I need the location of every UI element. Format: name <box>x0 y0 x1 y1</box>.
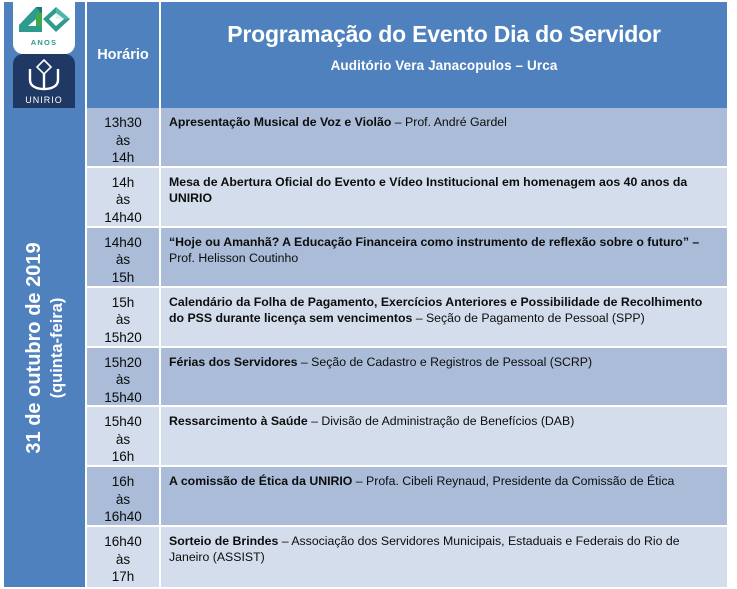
time-end: 16h40 <box>104 508 142 526</box>
cell-time: 16h40às17h <box>85 527 161 587</box>
activity-title: “Hoje ou Amanhã? A Educação Financeira c… <box>169 235 699 249</box>
time-separator: às <box>116 311 130 329</box>
time-start: 16h40 <box>104 533 142 551</box>
table-row: 15h40às16hRessarcimento à Saúde – Divisã… <box>85 407 727 467</box>
cell-time: 15h40às16h <box>85 407 161 465</box>
time-end: 15h20 <box>104 329 142 347</box>
page-title: Programação do Evento Dia do Servidor <box>227 21 661 47</box>
cell-time: 13h30às14h <box>85 108 161 166</box>
anniversary-label: ANOS <box>13 38 75 47</box>
cell-time: 16hàs16h40 <box>85 467 161 525</box>
table-row: 16hàs16h40A comissão de Ética da UNIRIO … <box>85 467 727 527</box>
date-line-weekday: (quinta-feira) <box>48 242 67 453</box>
cell-description: Ressarcimento à Saúde – Divisão de Admin… <box>161 407 727 465</box>
column-header-horario: Horário <box>85 2 161 108</box>
time-separator: às <box>116 251 130 269</box>
page-subtitle: Auditório Vera Janacopulos – Urca <box>331 58 558 73</box>
table-body: 31 de outubro de 2019 (quinta-feira) 13h… <box>4 108 727 587</box>
time-start: 14h <box>112 174 135 192</box>
activity-speaker: – Profa. Cibeli Reynaud, Presidente da C… <box>352 474 674 488</box>
time-start: 15h40 <box>104 413 142 431</box>
cell-time: 14hàs14h40 <box>85 168 161 226</box>
time-start: 14h40 <box>104 234 142 252</box>
time-start: 15h <box>112 294 135 312</box>
unirio-emblem-icon <box>24 58 64 92</box>
logo-cell: ANOS UNIRIO <box>4 2 85 108</box>
cell-time: 15h20às15h40 <box>85 348 161 406</box>
activity-speaker: – Seção de Cadastro e Registros de Pesso… <box>298 355 593 369</box>
activity-title: Mesa de Abertura Oficial do Evento e Víd… <box>169 175 687 205</box>
time-start: 13h30 <box>104 114 142 132</box>
time-separator: às <box>116 431 130 449</box>
activity-speaker: – Prof. André Gardel <box>391 115 507 129</box>
unirio-logo: UNIRIO <box>13 54 75 108</box>
cell-description: Mesa de Abertura Oficial do Evento e Víd… <box>161 168 727 226</box>
date-line-primary: 31 de outubro de 2019 <box>23 242 46 453</box>
activity-title: Ressarcimento à Saúde <box>169 414 308 428</box>
activity-title: A comissão de Ética da UNIRIO <box>169 474 352 488</box>
time-separator: às <box>116 191 130 209</box>
cell-description: Apresentação Musical de Voz e Violão – P… <box>161 108 727 166</box>
activity-speaker: – Seção de Pagamento de Pessoal (SPP) <box>412 311 644 325</box>
time-end: 17h <box>112 568 135 586</box>
table-row: 16h40às17hSorteio de Brindes – Associaçã… <box>85 527 727 587</box>
cell-time: 15hàs15h20 <box>85 288 161 346</box>
table-row: 15h20às15h40Férias dos Servidores – Seçã… <box>85 348 727 408</box>
cell-description: Férias dos Servidores – Seção de Cadastr… <box>161 348 727 406</box>
time-end: 15h <box>112 269 135 287</box>
table-row: 14h40às15h“Hoje ou Amanhã? A Educação Fi… <box>85 228 727 288</box>
event-schedule-sheet: ANOS UNIRIO Horário Programação do Event… <box>4 2 733 587</box>
anniversary-40-years-logo: ANOS <box>13 2 75 54</box>
activity-speaker: – Divisão de Administração de Benefícios… <box>308 414 575 428</box>
schedule-rows: 13h30às14hApresentação Musical de Voz e … <box>85 108 727 587</box>
time-start: 16h <box>112 473 135 491</box>
cell-description: “Hoje ou Amanhã? A Educação Financeira c… <box>161 228 727 286</box>
date-label-rotated: 31 de outubro de 2019 (quinta-feira) <box>23 242 67 453</box>
time-separator: às <box>116 551 130 569</box>
time-end: 16h <box>112 448 135 466</box>
cell-description: Sorteio de Brindes – Associação dos Serv… <box>161 527 727 587</box>
activity-speaker: Prof. Helisson Coutinho <box>169 251 298 265</box>
table-row: 13h30às14hApresentação Musical de Voz e … <box>85 108 727 168</box>
table-row: 14hàs14h40Mesa de Abertura Oficial do Ev… <box>85 168 727 228</box>
cell-time: 14h40às15h <box>85 228 161 286</box>
activity-title: Férias dos Servidores <box>169 355 298 369</box>
activity-title: Apresentação Musical de Voz e Violão <box>169 115 391 129</box>
time-start: 15h20 <box>104 354 142 372</box>
table-row: 15hàs15h20Calendário da Folha de Pagamen… <box>85 288 727 348</box>
time-separator: às <box>116 491 130 509</box>
header-title-cell: Programação do Evento Dia do Servidor Au… <box>161 2 727 108</box>
time-separator: às <box>116 371 130 389</box>
forty-years-icon <box>16 5 72 39</box>
time-end: 15h40 <box>104 389 142 407</box>
date-column: 31 de outubro de 2019 (quinta-feira) <box>4 108 85 587</box>
time-end: 14h40 <box>104 209 142 227</box>
cell-description: Calendário da Folha de Pagamento, Exercí… <box>161 288 727 346</box>
time-end: 14h <box>112 149 135 167</box>
unirio-wordmark: UNIRIO <box>13 95 75 105</box>
time-separator: às <box>116 132 130 150</box>
table-header: ANOS UNIRIO Horário Programação do Event… <box>4 2 727 108</box>
activity-title: Sorteio de Brindes <box>169 534 278 548</box>
cell-description: A comissão de Ética da UNIRIO – Profa. C… <box>161 467 727 525</box>
